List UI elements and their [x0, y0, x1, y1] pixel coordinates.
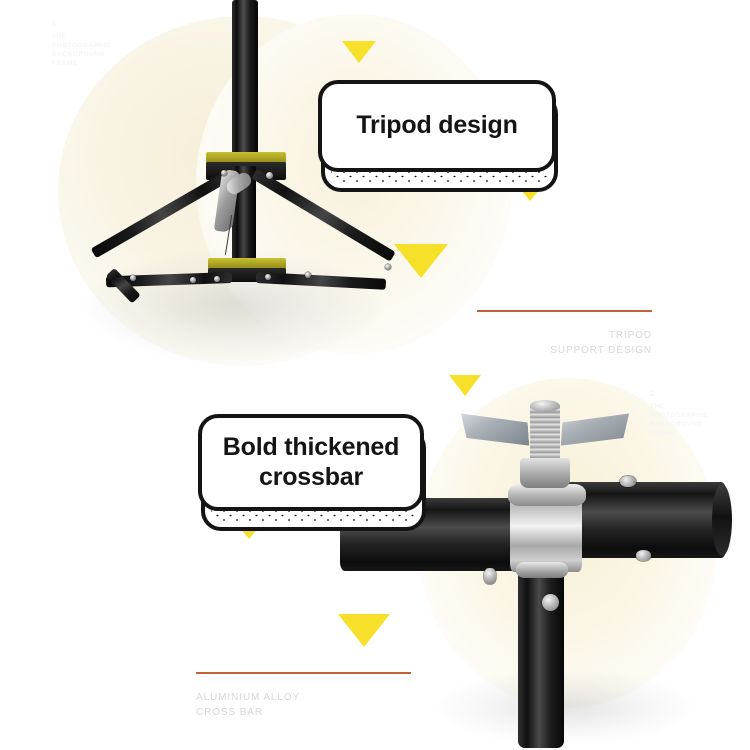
tube-end-cap	[712, 484, 732, 556]
rivet	[305, 272, 311, 278]
vertical-tube	[518, 568, 564, 748]
callout-label: Tripod design	[346, 111, 527, 141]
vertical-tube-collar	[516, 562, 568, 578]
rivet	[130, 275, 136, 281]
screw-icon	[636, 550, 651, 561]
rivet	[385, 264, 391, 270]
dot-pattern	[331, 171, 548, 184]
orange-rule	[196, 672, 411, 674]
wing-nut-right	[561, 406, 630, 451]
tripod-panel: 1THE PHOTOGRAPHIC BACKGROUND FRAME	[0, 0, 750, 372]
product-shadow	[440, 672, 690, 742]
marker-triangle-icon	[338, 614, 390, 647]
orange-rule	[477, 310, 652, 312]
tripod-leg-left	[91, 169, 235, 259]
rivet	[214, 276, 220, 282]
rivet	[190, 277, 196, 283]
product-feature-page: 1THE PHOTOGRAPHIC BACKGROUND FRAME	[0, 0, 750, 750]
caption-text: ALUMINIUM ALLOY CROSS BAR	[196, 690, 411, 721]
marker-triangle-icon	[394, 244, 448, 278]
rivet	[265, 274, 271, 280]
label-aluminium-alloy: ALUMINIUM ALLOY CROSS BAR	[196, 672, 411, 721]
screw-icon	[542, 594, 559, 611]
crossbar-panel: 2THE PHOTOGRAPHIC BACKGROUND FRAME	[0, 372, 750, 750]
callout-label: Bold thickened crossbar	[213, 433, 409, 492]
rivet	[221, 170, 227, 176]
caption-text: TRIPOD SUPPORT DESIGN	[477, 328, 652, 359]
screw-icon	[620, 476, 636, 487]
marker-triangle-icon	[342, 41, 376, 63]
callout-body: Bold thickened crossbar	[198, 414, 424, 511]
bolt-cap	[530, 400, 560, 412]
center-column	[232, 0, 258, 172]
rivet	[266, 172, 273, 179]
screw-icon	[484, 568, 496, 584]
threaded-bolt	[530, 404, 560, 466]
dot-pattern	[211, 510, 416, 523]
marker-triangle-icon	[449, 375, 481, 396]
callout-body: Tripod design	[318, 80, 556, 172]
callout-bold-crossbar: Bold thickened crossbar	[198, 414, 426, 531]
bolt-base	[520, 458, 570, 488]
wing-nut-left	[461, 406, 530, 451]
callout-tripod-design: Tripod design	[318, 80, 558, 192]
label-tripod-support: TRIPOD SUPPORT DESIGN	[477, 310, 652, 359]
